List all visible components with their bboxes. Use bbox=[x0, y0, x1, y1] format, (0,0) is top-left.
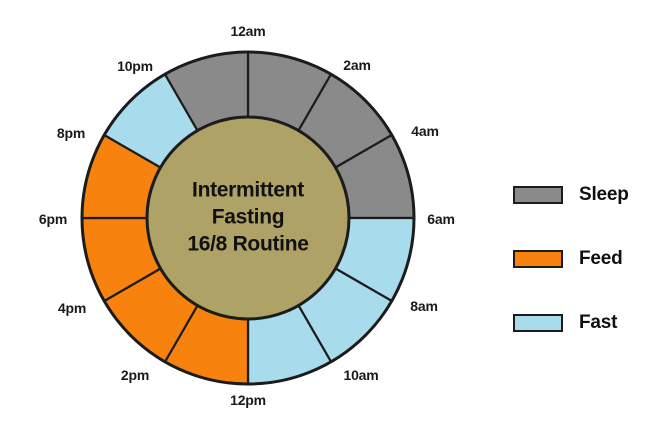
chart-center-title: Intermittent Fasting 16/8 Routine bbox=[148, 178, 348, 259]
hour-label-2am: 2am bbox=[343, 58, 370, 72]
hour-label-8pm: 8pm bbox=[57, 126, 85, 140]
legend-label-fast: Fast bbox=[579, 312, 617, 334]
hour-label-4pm: 4pm bbox=[58, 301, 86, 315]
hour-label-6pm: 6pm bbox=[39, 212, 67, 226]
center-title-line-1: Intermittent bbox=[148, 178, 348, 205]
legend-swatch-fast bbox=[513, 314, 563, 332]
legend-item-sleep: Sleep bbox=[513, 172, 653, 217]
legend-item-feed: Feed bbox=[513, 236, 653, 281]
hour-label-2pm: 2pm bbox=[121, 368, 149, 382]
legend-item-fast: Fast bbox=[513, 300, 653, 345]
hour-label-10am: 10am bbox=[343, 368, 378, 382]
center-title-line-3: 16/8 Routine bbox=[148, 231, 348, 258]
legend-label-feed: Feed bbox=[579, 248, 623, 270]
hour-label-12am: 12am bbox=[230, 24, 265, 38]
hour-label-4am: 4am bbox=[411, 124, 438, 138]
legend-label-sleep: Sleep bbox=[579, 184, 629, 206]
hour-label-12pm: 12pm bbox=[230, 393, 266, 407]
figure-canvas: Intermittent Fasting 16/8 Routine 12am2a… bbox=[0, 0, 664, 429]
legend-swatch-feed bbox=[513, 250, 563, 268]
hour-label-6am: 6am bbox=[427, 212, 454, 226]
legend-swatch-sleep bbox=[513, 186, 563, 204]
hour-label-8am: 8am bbox=[410, 299, 437, 313]
hour-label-10pm: 10pm bbox=[117, 59, 153, 73]
chart-legend: Sleep Feed Fast bbox=[513, 172, 653, 364]
center-title-line-2: Fasting bbox=[148, 205, 348, 232]
